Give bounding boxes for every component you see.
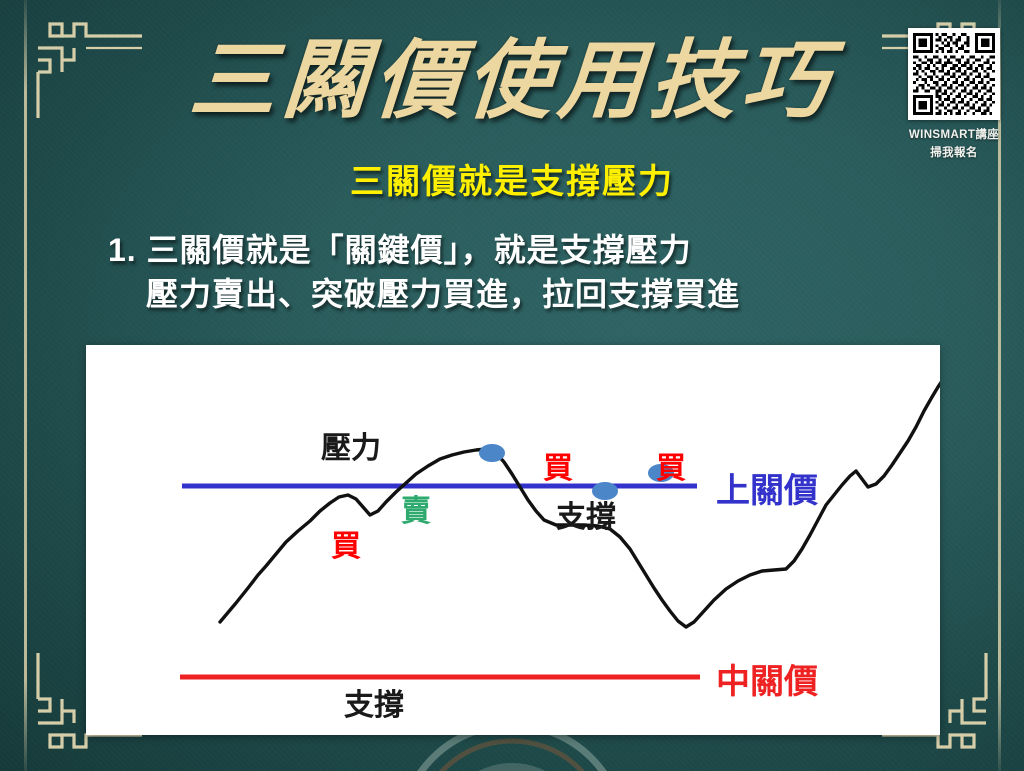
body-text: 1. 三關價就是「關鍵價」，就是支撐壓力 壓力賣出、突破壓力買進，拉回支撐買進 (108, 228, 938, 316)
qr-signup-block[interactable]: WINSMART講座 掃我報名 (898, 28, 1010, 160)
slide-root: 三闗價使用技巧 三關價就是支撐壓力 (0, 0, 1024, 771)
page-title: 三闗價使用技巧 (0, 36, 1024, 126)
body-line-1: 1. 三關價就是「關鍵價」，就是支撐壓力 (108, 228, 938, 272)
price-chart: 壓力買賣買買支撐支撐 上關價中關價 (86, 345, 940, 735)
price-line-path (220, 353, 940, 627)
body-line-2: 壓力賣出、突破壓力買進，拉回支撐買進 (108, 272, 938, 316)
middle-gate-price-label: 中關價 (716, 662, 818, 702)
upper-gate-price-label: 上關價 (716, 471, 818, 511)
sell-label-1: 賣 (401, 494, 432, 529)
chart-markers-group (479, 444, 674, 500)
support-mid-label: 支撐 (556, 500, 616, 535)
qr-code-icon[interactable] (908, 28, 1000, 120)
sell-signal-dot (479, 444, 505, 462)
page-subtitle: 三關價就是支撐壓力 (0, 154, 1024, 203)
qr-caption-line-1: WINSMART講座 (898, 126, 1010, 142)
price-chart-panel: 壓力買賣買買支撐支撐 上關價中關價 (86, 345, 940, 735)
resistance-top-label: 壓力 (321, 431, 381, 466)
buy-label-3: 買 (656, 451, 686, 486)
buy-label-2: 買 (543, 451, 573, 486)
buy-label-1: 買 (331, 529, 361, 564)
buy-signal-dot-1 (592, 482, 618, 500)
qr-caption-line-2: 掃我報名 (898, 144, 1010, 160)
chart-horizontal-lines (180, 486, 700, 677)
chart-series-group (220, 353, 940, 627)
support-bottom-label: 支撐 (344, 688, 404, 723)
qr-code-glyph (913, 33, 995, 115)
